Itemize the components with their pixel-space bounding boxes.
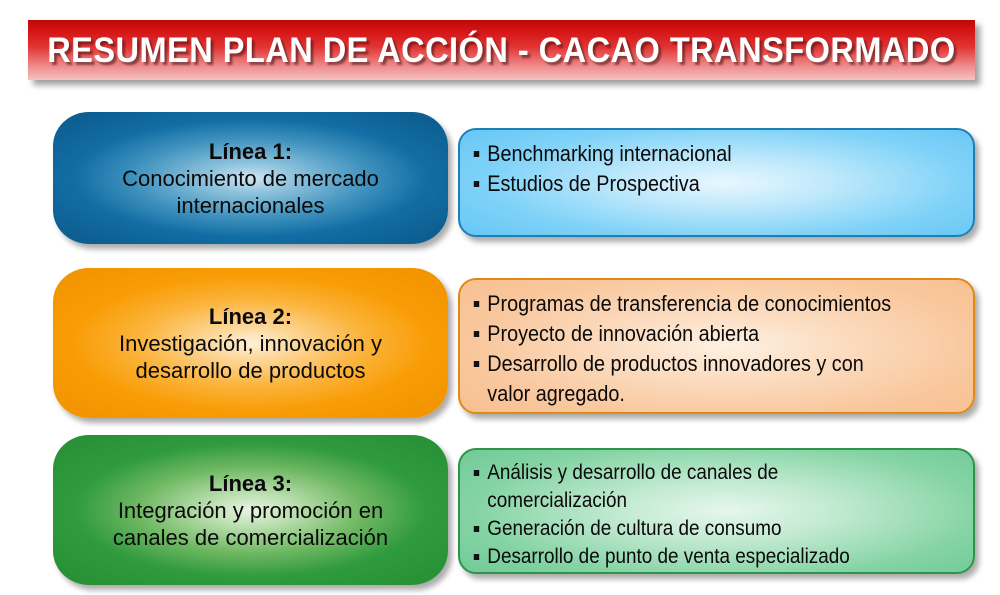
bullet-list-1: Benchmarking internacional Estudios de P…: [472, 139, 959, 199]
list-item: Desarrollo de punto de venta especializa…: [472, 543, 910, 571]
list-item: Análisis y desarrollo de canales de come…: [472, 459, 910, 515]
line-label-box-1[interactable]: Línea 1: Conocimiento de mercado interna…: [53, 112, 448, 244]
slide-canvas: RESUMEN PLAN DE ACCIÓN - CACAO TRANSFORM…: [0, 0, 1000, 595]
bullet-panel-2[interactable]: Programas de transferencia de conocimien…: [458, 278, 975, 414]
list-item: Programas de transferencia de conocimien…: [472, 289, 910, 319]
page-title: RESUMEN PLAN DE ACCIÓN - CACAO TRANSFORM…: [47, 33, 955, 68]
bullet-panel-1[interactable]: Benchmarking internacional Estudios de P…: [458, 128, 975, 237]
line-title-1: Línea 1:: [209, 138, 292, 165]
line-description-3-line-1: Integración y promoción en: [118, 497, 383, 524]
line-description-2-line-2: desarrollo de productos: [136, 357, 366, 384]
strategy-row-linea-1: Línea 1: Conocimiento de mercado interna…: [0, 112, 1000, 246]
line-description-3-line-2: canales de comercialización: [113, 524, 388, 551]
title-banner: RESUMEN PLAN DE ACCIÓN - CACAO TRANSFORM…: [28, 20, 975, 80]
list-item: Desarrollo de productos innovadores y co…: [472, 349, 910, 409]
list-item: Eventos de exploración: [472, 571, 910, 574]
strategy-row-linea-2: Línea 2: Investigación, innovación y des…: [0, 268, 1000, 420]
list-item: Proyecto de innovación abierta: [472, 319, 910, 349]
line-title-3: Línea 3:: [209, 470, 292, 497]
list-item: Benchmarking internacional: [472, 139, 910, 169]
strategy-row-linea-3: Línea 3: Integración y promoción en cana…: [0, 435, 1000, 587]
line-title-2: Línea 2:: [209, 303, 292, 330]
list-item: Estudios de Prospectiva: [472, 169, 910, 199]
bullet-list-3: Análisis y desarrollo de canales de come…: [472, 459, 959, 574]
line-label-box-3[interactable]: Línea 3: Integración y promoción en cana…: [53, 435, 448, 585]
line-description-2-line-1: Investigación, innovación y: [119, 330, 382, 357]
line-label-box-2[interactable]: Línea 2: Investigación, innovación y des…: [53, 268, 448, 418]
line-description-1-line-1: Conocimiento de mercado: [122, 165, 379, 192]
bullet-panel-3[interactable]: Análisis y desarrollo de canales de come…: [458, 448, 975, 574]
line-description-1-line-2: internacionales: [177, 192, 325, 219]
list-item: Generación de cultura de consumo: [472, 515, 910, 543]
bullet-list-2: Programas de transferencia de conocimien…: [472, 289, 959, 409]
